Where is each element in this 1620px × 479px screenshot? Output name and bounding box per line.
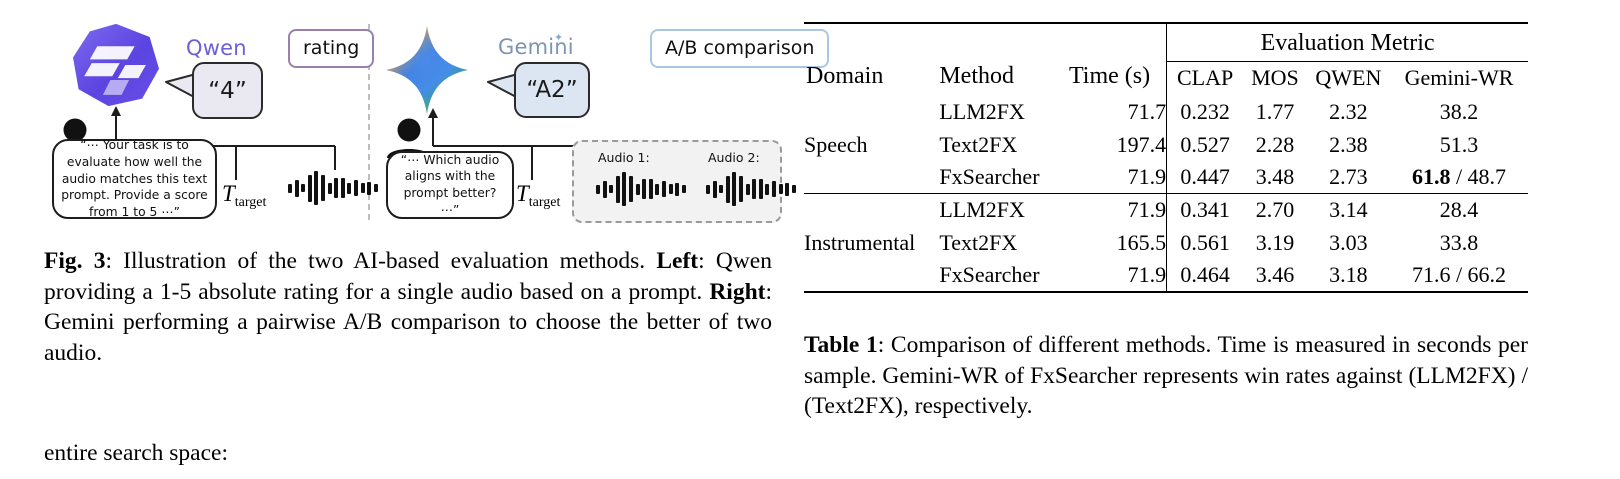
figure-caption-label: Fig. 3 <box>44 248 105 274</box>
cell-mos: 2.28 <box>1243 128 1307 160</box>
cell-method: Text2FX <box>939 128 1067 160</box>
figure-caption-bold-left: Left <box>656 248 698 274</box>
cell-clap: 0.232 <box>1167 96 1244 128</box>
cell-domain: Instrumental <box>804 194 939 293</box>
cell-gemini-wr: 38.2 <box>1390 96 1528 128</box>
cell-method: LLM2FX <box>939 96 1067 128</box>
column-header-method: Method <box>939 61 1067 96</box>
cell-time: 71.9 <box>1068 259 1167 292</box>
cell-method: Text2FX <box>939 227 1067 259</box>
results-table: Evaluation Metric Domain Method Time (s)… <box>804 22 1528 293</box>
table-row: SpeechLLM2FX71.70.2321.772.3238.2 <box>804 96 1528 128</box>
column-header-qwen: QWEN <box>1307 62 1390 97</box>
cell-clap: 0.561 <box>1167 227 1244 259</box>
table-caption-text: Comparison of different methods. Time is… <box>804 332 1528 419</box>
table-header: Evaluation Metric Domain Method Time (s)… <box>804 23 1528 96</box>
table-caption-label: Table 1 <box>804 332 878 358</box>
figure-panel-left: Qwen “4” “⋯ Your task is to evaluate how… <box>40 14 365 224</box>
cell-method: LLM2FX <box>939 194 1067 227</box>
rating-badge: rating <box>288 29 374 68</box>
sparkle-icon: ✦ <box>554 31 563 44</box>
cell-mos: 3.46 <box>1243 259 1307 292</box>
qwen-brand-label: Qwen <box>186 36 247 60</box>
table-body: SpeechLLM2FX71.70.2321.772.3238.2Text2FX… <box>804 96 1528 293</box>
audio-2-label: Audio 2: <box>708 150 760 165</box>
audio-1-label: Audio 1: <box>598 150 650 165</box>
gemini-logo-icon <box>384 24 470 116</box>
cell-qwen: 2.38 <box>1307 128 1390 160</box>
table-row: InstrumentalLLM2FX71.90.3412.703.1428.4 <box>804 194 1528 227</box>
target-text-label: Ttarget <box>222 181 266 211</box>
body-text-line: entire search space: <box>44 438 772 469</box>
cell-method: FxSearcher <box>939 259 1067 292</box>
cell-mos: 3.48 <box>1243 161 1307 194</box>
column-header-gemini-wr: Gemini-WR <box>1390 62 1528 97</box>
audio-waveform-icon <box>596 172 686 206</box>
cell-qwen: 3.03 <box>1307 227 1390 259</box>
table-caption-sep: : <box>878 332 891 358</box>
paper-page-region: Qwen “4” “⋯ Your task is to evaluate how… <box>0 0 1620 479</box>
cell-method: FxSearcher <box>939 161 1067 194</box>
cell-qwen: 2.73 <box>1307 161 1390 194</box>
qwen-reply-bubble: “4” <box>192 62 263 119</box>
cell-qwen: 3.18 <box>1307 259 1390 292</box>
audio-waveform-icon <box>706 172 796 206</box>
column-header-time: Time (s) <box>1068 61 1167 96</box>
gemini-reply-bubble: “A2” <box>514 62 590 118</box>
cell-time: 197.4 <box>1068 128 1167 160</box>
figure-panel-right: Gemini ✦ “A2” “⋯ Which audio aligns with… <box>376 14 780 224</box>
evaluation-metric-group-header: Evaluation Metric <box>1167 23 1528 61</box>
cell-domain: Speech <box>804 96 939 194</box>
cell-clap: 0.464 <box>1167 259 1244 292</box>
qwen-logo-icon <box>68 22 164 108</box>
cell-time: 165.5 <box>1068 227 1167 259</box>
bottom-rule-cell <box>804 292 1528 293</box>
cell-time: 71.7 <box>1068 96 1167 128</box>
cell-clap: 0.447 <box>1167 161 1244 194</box>
cell-clap: 0.527 <box>1167 128 1244 160</box>
cell-clap: 0.341 <box>1167 194 1244 227</box>
figure-3: Qwen “4” “⋯ Your task is to evaluate how… <box>40 14 780 224</box>
figure-caption: Fig. 3: Illustration of the two AI-based… <box>44 246 772 368</box>
cell-gemini-wr: 51.3 <box>1390 128 1528 160</box>
column-header-clap: CLAP <box>1167 62 1244 97</box>
cell-time: 71.9 <box>1068 194 1167 227</box>
table-caption: Table 1: Comparison of different methods… <box>804 330 1528 422</box>
table-group-header-row: Evaluation Metric <box>804 23 1528 61</box>
cell-mos: 1.77 <box>1243 96 1307 128</box>
column-header-mos: MOS <box>1243 62 1307 97</box>
audio-pair-box: Audio 1: Audio 2: <box>572 140 782 223</box>
user-prompt-box: “⋯ Your task is to evaluate how well the… <box>52 139 217 219</box>
figure-caption-part1: Illustration of the two AI-based evaluat… <box>123 248 656 274</box>
column-header-domain: Domain <box>804 61 939 96</box>
cell-qwen: 2.32 <box>1307 96 1390 128</box>
cell-mos: 2.70 <box>1243 194 1307 227</box>
group-header-spacer <box>804 23 1167 61</box>
figure-caption-bold-right: Right <box>709 279 765 305</box>
cell-time: 71.9 <box>1068 161 1167 194</box>
cell-gemini-wr: 71.6 / 66.2 <box>1390 259 1528 292</box>
table-bottom-rule <box>804 292 1528 293</box>
audio-waveform-icon <box>288 171 378 205</box>
cell-gemini-wr: 61.8 / 48.7 <box>1390 161 1528 194</box>
left-column: Qwen “4” “⋯ Your task is to evaluate how… <box>40 0 780 479</box>
cell-gemini-wr: 33.8 <box>1390 227 1528 259</box>
figure-caption-sep: : <box>105 248 123 274</box>
cell-gemini-wr: 28.4 <box>1390 194 1528 227</box>
user-prompt-box: “⋯ Which audio aligns with the prompt be… <box>386 151 514 219</box>
table-1-wrapper: Evaluation Metric Domain Method Time (s)… <box>804 22 1528 293</box>
cell-mos: 3.19 <box>1243 227 1307 259</box>
target-text-label: Ttarget <box>516 181 560 211</box>
right-column: Evaluation Metric Domain Method Time (s)… <box>800 0 1580 479</box>
cell-qwen: 3.14 <box>1307 194 1390 227</box>
